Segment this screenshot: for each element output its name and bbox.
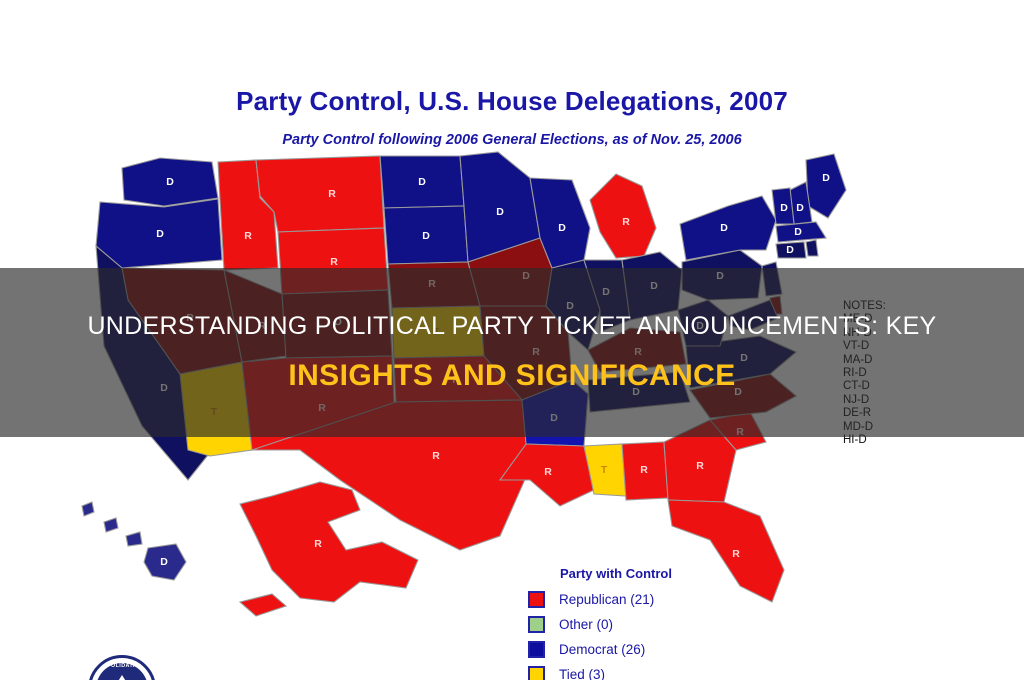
legend-swatch-republican <box>528 591 545 608</box>
legend-swatch-tied <box>528 666 545 680</box>
state-HI-bigisland[interactable] <box>144 544 186 580</box>
map-page: Party Control, U.S. House Delegations, 2… <box>0 0 1024 680</box>
state-AL[interactable] <box>622 442 668 500</box>
state-SD[interactable] <box>384 206 468 264</box>
state-MA[interactable] <box>776 222 826 242</box>
page-subtitle: Party Control following 2006 General Ele… <box>0 132 1024 148</box>
legend-label-tied: Tied (3) <box>559 667 605 680</box>
page-title: Party Control, U.S. House Delegations, 2… <box>0 86 1024 117</box>
state-NY[interactable] <box>680 196 776 260</box>
legend-swatch-other <box>528 616 545 633</box>
state-MT[interactable] <box>256 156 384 232</box>
state-HI-oahu[interactable] <box>104 518 118 532</box>
state-ND[interactable] <box>380 156 464 208</box>
state-RI[interactable] <box>806 240 818 256</box>
legend-label-other: Other (0) <box>559 617 613 632</box>
state-AK-aleutians[interactable] <box>240 594 286 616</box>
state-CT[interactable] <box>776 242 806 258</box>
overlay-headline-secondary: INSIGHTS AND SIGNIFICANCE <box>288 357 735 395</box>
state-VT[interactable] <box>772 188 794 224</box>
legend-label-democrat: Democrat (26) <box>559 642 645 657</box>
state-HI-maui[interactable] <box>126 532 142 546</box>
legend-label-republican: Republican (21) <box>559 592 654 607</box>
state-OR[interactable] <box>96 199 222 268</box>
seal-text: POLIDATA <box>91 663 153 669</box>
legend-item-other: Other (0) <box>528 612 758 637</box>
legend-swatch-democrat <box>528 641 545 658</box>
seal-star-icon <box>112 675 132 680</box>
overlay-headline-primary: UNDERSTANDING POLITICAL PARTY TICKET ANN… <box>67 311 956 341</box>
state-MI[interactable] <box>590 174 656 258</box>
overlay-banner: UNDERSTANDING POLITICAL PARTY TICKET ANN… <box>0 268 1024 437</box>
state-HI-kauai[interactable] <box>82 502 94 516</box>
legend-item-republican: Republican (21) <box>528 587 758 612</box>
legend-item-democrat: Democrat (26) <box>528 637 758 662</box>
state-ME[interactable] <box>806 154 846 218</box>
map-legend: Party with Control Republican (21) Other… <box>528 566 758 680</box>
legend-item-tied: Tied (3) <box>528 662 758 680</box>
state-WA[interactable] <box>122 158 218 206</box>
legend-title: Party with Control <box>560 566 758 581</box>
